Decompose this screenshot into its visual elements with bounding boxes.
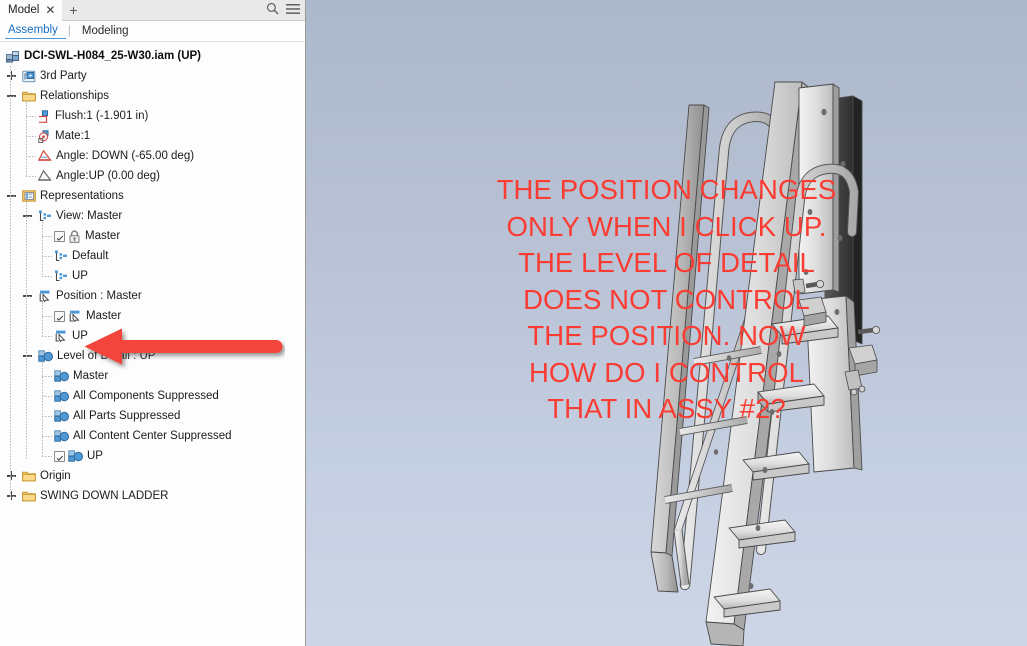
lod-rep-icon: [54, 390, 69, 402]
assembly-icon: [6, 50, 20, 63]
tree-item[interactable]: Representations: [0, 186, 305, 206]
tree-guide-line: [42, 302, 43, 336]
view-rep-icon: [38, 210, 52, 222]
tree-guide-line: [10, 196, 16, 197]
tree-item-label: Master: [85, 226, 120, 246]
tree-guide-line: [10, 76, 16, 77]
tree-guide-line: [42, 336, 52, 337]
model-browser-panel: Model ✕ +: [0, 0, 306, 646]
tree-guide-line: [26, 202, 27, 460]
tree-guide-line: [26, 102, 27, 176]
tree-guide-line: [26, 156, 36, 157]
tree-guide-line: [42, 276, 52, 277]
tree-guide-line: [42, 236, 52, 237]
tree-item-label: Master: [86, 306, 121, 326]
tree-guide-line: [42, 316, 52, 317]
search-icon[interactable]: [266, 2, 279, 20]
tree-item-checkbox[interactable]: [54, 311, 65, 322]
lod-rep-icon: [54, 370, 69, 382]
tree-guide-line: [42, 456, 52, 457]
browser-subtabs: Assembly | Modeling: [0, 21, 305, 42]
tree-guide-line: [42, 376, 52, 377]
model-tree[interactable]: DCI-SWL-H084_25-W30.iam (UP)3rd PartyRel…: [0, 42, 305, 506]
tab-model[interactable]: Model ✕: [0, 0, 62, 21]
lock-icon: [68, 230, 81, 243]
tab-assembly[interactable]: Assembly: [5, 23, 66, 39]
angle-constraint-gray-icon: [38, 170, 52, 182]
subtab-separator: |: [66, 25, 73, 37]
tree-guide-line: [26, 296, 32, 297]
tree-item-checkbox[interactable]: [54, 451, 65, 462]
tree-item[interactable]: SWING DOWN LADDER: [0, 486, 305, 506]
tree-item-label: Angle: DOWN (-65.00 deg): [56, 146, 194, 166]
lod-rep-icon: [68, 450, 83, 462]
tree-guide-line: [42, 436, 52, 437]
tree-guide-line: [10, 496, 16, 497]
tree-guide-line: [42, 222, 43, 276]
tree-guide-line: [10, 66, 11, 496]
position-rep-icon: [68, 310, 82, 322]
tree-guide-line: [26, 116, 36, 117]
angle-constraint-icon: [38, 150, 52, 162]
tree-guide-line: [42, 416, 52, 417]
tab-modeling[interactable]: Modeling: [73, 24, 137, 39]
tree-item-label: Level of Detail : UP: [57, 346, 155, 366]
tree-item-label: Position : Master: [56, 286, 142, 306]
tree-item-label: All Parts Suppressed: [73, 406, 180, 426]
tree-item-label: SWING DOWN LADDER: [40, 486, 168, 506]
tree-item-label: UP: [72, 266, 88, 286]
mate-constraint-icon: [38, 130, 51, 143]
tree-guide-line: [26, 136, 36, 137]
representations-icon: [22, 190, 36, 202]
position-rep-icon: [38, 290, 52, 302]
inventor-window: Model ✕ +: [0, 0, 1027, 646]
tree-item-label: Flush:1 (-1.901 in): [55, 106, 148, 126]
tree-item-label: Representations: [40, 186, 124, 206]
lod-rep-icon: [38, 350, 53, 362]
tree-guide-line: [26, 176, 36, 177]
tree-item[interactable]: Origin: [0, 466, 305, 486]
3d-model-viewport[interactable]: THE POSITION CHANGES ONLY WHEN I CLICK U…: [306, 0, 1027, 646]
tree-item[interactable]: Flush:1 (-1.901 in): [0, 106, 305, 126]
lod-rep-icon: [54, 410, 69, 422]
tree-item-label: Mate:1: [55, 126, 90, 146]
position-rep-icon: [54, 330, 68, 342]
tree-item[interactable]: Angle:UP (0.00 deg): [0, 166, 305, 186]
tree-item[interactable]: Angle: DOWN (-65.00 deg): [0, 146, 305, 166]
view-rep-icon: [54, 270, 68, 282]
tree-item-checkbox[interactable]: [54, 231, 65, 242]
folder-icon: [22, 470, 36, 482]
tab-model-label: Model: [8, 4, 39, 16]
tree-item-label: Angle:UP (0.00 deg): [56, 166, 160, 186]
tree-guide-line: [26, 356, 32, 357]
tree-item-label: Relationships: [40, 86, 109, 106]
tree-item-label: Origin: [40, 466, 71, 486]
tree-guide-line: [42, 256, 52, 257]
lod-rep-icon: [54, 430, 69, 442]
tree-item-label: Master: [73, 366, 108, 386]
tree-item-label: All Components Suppressed: [73, 386, 219, 406]
close-icon[interactable]: ✕: [44, 4, 56, 16]
flush-constraint-icon: [38, 110, 51, 123]
tree-item[interactable]: Mate:1: [0, 126, 305, 146]
plus-icon[interactable]: +: [62, 3, 84, 17]
third-party-icon: [22, 70, 36, 83]
tree-guide-line: [10, 476, 16, 477]
tree-item[interactable]: Position : Master: [0, 286, 305, 306]
tree-item-label: 3rd Party: [40, 66, 87, 86]
tree-item[interactable]: Level of Detail : UP: [0, 346, 305, 366]
hamburger-menu-icon[interactable]: [286, 2, 300, 20]
tree-item-label: UP: [87, 446, 103, 466]
folder-icon: [22, 90, 36, 102]
tree-item-label: UP: [72, 326, 88, 346]
tree-item[interactable]: View: Master: [0, 206, 305, 226]
browser-tabstrip: Model ✕ +: [0, 0, 305, 21]
tree-guide-line: [42, 396, 52, 397]
tree-item-label: Default: [72, 246, 108, 266]
tree-item-label: DCI-SWL-H084_25-W30.iam (UP): [24, 46, 201, 66]
tree-guide-line: [26, 216, 32, 217]
tree-guide-line: [10, 96, 16, 97]
tree-item[interactable]: 3rd Party: [0, 66, 305, 86]
browser-tools: [266, 0, 300, 21]
folder-icon: [22, 490, 36, 502]
tree-item-label: View: Master: [56, 206, 122, 226]
annotation-text: THE POSITION CHANGES ONLY WHEN I CLICK U…: [306, 172, 1027, 428]
tree-item[interactable]: Relationships: [0, 86, 305, 106]
view-rep-icon: [54, 250, 68, 262]
tree-root-item[interactable]: DCI-SWL-H084_25-W30.iam (UP): [0, 46, 305, 66]
tree-item-label: All Content Center Suppressed: [73, 426, 232, 446]
